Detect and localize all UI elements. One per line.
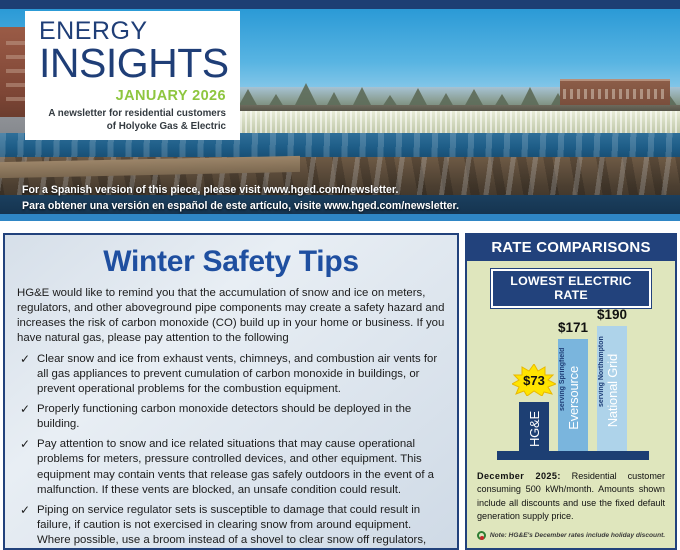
masthead-subtitle-line1: A newsletter for residential customers [39,108,226,121]
starburst-badge-hge: $73 [512,364,556,396]
chart-baseline [497,451,649,460]
masthead-issue-date: JANUARY 2026 [39,88,228,104]
rate-footnote-label: December 2025: [477,471,561,481]
bar-group-eversource: $171 Eversource serving Springfield [558,339,588,452]
bar-group-hge: $73 HG&E [519,402,549,452]
newsletter-page: ENERGY INSIGHTS JANUARY 2026 A newslette… [0,0,680,550]
wreath-icon [477,531,486,540]
hero-bottom-blue-strip [0,214,680,221]
page-title: Winter Safety Tips [17,245,445,278]
electric-rate-bar-chart: $73 HG&E $171 Eversource serving Springf… [467,314,677,464]
list-item: ✓ Properly functioning carbon monoxide d… [17,402,445,432]
winter-safety-article: Winter Safety Tips HG&E would like to re… [3,233,459,550]
masthead: ENERGY INSIGHTS JANUARY 2026 A newslette… [25,11,240,140]
brick-mill-building [560,79,670,105]
list-item: ✓ Pay attention to snow and ice related … [17,437,445,497]
top-navy-strip [0,0,680,9]
article-intro-paragraph: HG&E would like to remind you that the a… [17,286,445,346]
bar-sublabel-eversource: serving Springfield [559,348,587,452]
bar-hge: HG&E [519,402,549,452]
bar-label-hge: HG&E [527,407,542,447]
rate-comparisons-panel: RATE COMPARISONS LOWEST ELECTRIC RATE $7… [465,233,677,550]
bar-value-national-grid: $190 [597,307,627,322]
list-item-text: Pay attention to snow and ice related si… [37,438,434,495]
rate-footnote: December 2025: Residential customer cons… [477,470,665,523]
bar-value-eversource: $171 [558,320,588,335]
checkmark-icon: ✓ [20,503,30,519]
list-item: ✓ Piping on service regulator sets is su… [17,503,445,550]
chart-bars: $73 HG&E $171 Eversource serving Springf… [493,320,653,452]
bar-value-hge: $73 [523,373,545,388]
list-item-text: Properly functioning carbon monoxide det… [37,403,411,430]
masthead-subtitle: A newsletter for residential customers o… [39,108,228,134]
masthead-insights: INSIGHTS [39,42,228,85]
list-item-text: Piping on service regulator sets is susc… [37,504,437,550]
spanish-version-banner: For a Spanish version of this piece, ple… [22,182,662,214]
holiday-note-text: Note: HG&E's December rates include holi… [490,532,665,539]
banner-english-text: For a Spanish version of this piece, ple… [22,182,662,198]
list-item-text: Clear snow and ice from exhaust vents, c… [37,353,437,395]
hero-bottom-white-gap [0,221,680,230]
safety-tips-list: ✓ Clear snow and ice from exhaust vents,… [17,352,445,550]
bar-group-national-grid: $190 National Grid serving Northampton [597,326,627,452]
bar-sublabel-national-grid: serving Northampton [598,336,626,452]
masthead-subtitle-line2: of Holyoke Gas & Electric [39,121,226,134]
holiday-discount-note: Note: HG&E's December rates include holi… [467,531,675,540]
rate-comparisons-header: RATE COMPARISONS [467,235,675,261]
checkmark-icon: ✓ [20,402,30,418]
bar-national-grid: National Grid serving Northampton [597,326,627,452]
checkmark-icon: ✓ [20,437,30,453]
checkmark-icon: ✓ [20,352,30,368]
banner-spanish-text: Para obtener una versión en español de e… [22,198,662,214]
bar-eversource: Eversource serving Springfield [558,339,588,452]
lowest-electric-rate-badge: LOWEST ELECTRIC RATE [491,269,651,308]
list-item: ✓ Clear snow and ice from exhaust vents,… [17,352,445,397]
